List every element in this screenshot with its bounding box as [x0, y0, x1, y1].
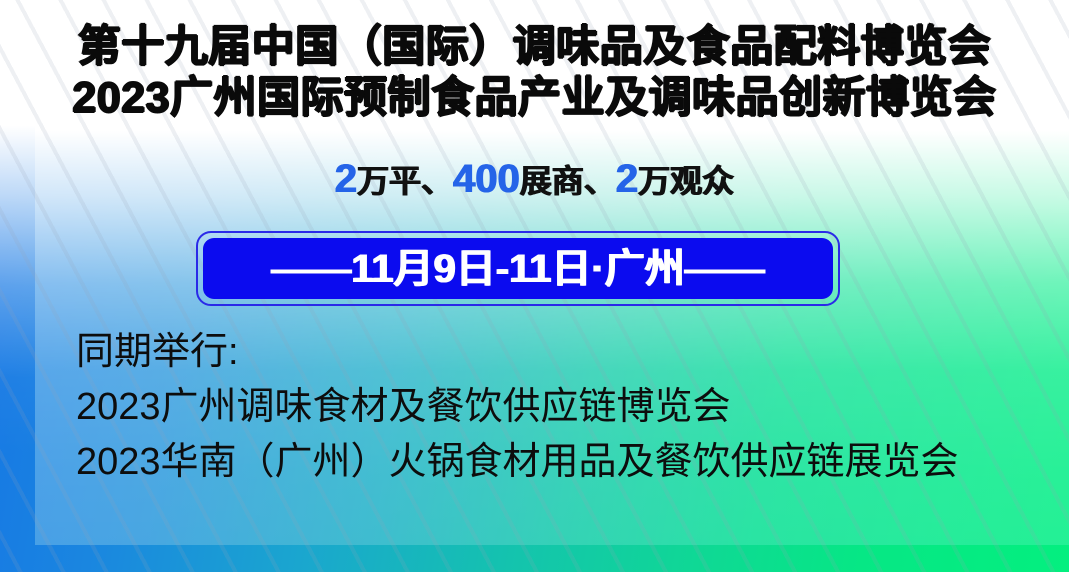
- concurrent-events-label: 同期举行:: [76, 325, 1056, 380]
- stat-area-number: 2: [335, 157, 357, 201]
- concurrent-events-block: 同期举行: 2023广州调味食材及餐饮供应链博览会 2023华南（广州）火锅食材…: [76, 325, 1056, 490]
- event-poster: 第十九届中国（国际）调味品及食品配料博览会 2023广州国际预制食品产业及调味品…: [0, 0, 1069, 572]
- stat-visitors-number: 2: [616, 157, 638, 201]
- poster-content: 第十九届中国（国际）调味品及食品配料博览会 2023广州国际预制食品产业及调味品…: [0, 0, 1069, 572]
- stat-area-unit: 万平、: [357, 163, 453, 199]
- date-location-text: ——11月9日-11日·广州——: [271, 247, 764, 291]
- stat-exhibitors-number: 400: [453, 157, 520, 201]
- date-location-banner-fill: ——11月9日-11日·广州——: [203, 238, 833, 299]
- date-location-banner: ——11月9日-11日·广州——: [196, 231, 840, 306]
- headline-block: 第十九届中国（国际）调味品及食品配料博览会 2023广州国际预制食品产业及调味品…: [0, 22, 1069, 124]
- concurrent-event-2: 2023华南（广州）火锅食材用品及餐饮供应链展览会: [76, 435, 1056, 490]
- headline-line-2: 2023广州国际预制食品产业及调味品创新博览会: [0, 73, 1069, 124]
- headline-line-1: 第十九届中国（国际）调味品及食品配料博览会: [0, 22, 1069, 73]
- stat-exhibitors-unit: 展商、: [520, 163, 616, 199]
- concurrent-event-1: 2023广州调味食材及餐饮供应链博览会: [76, 380, 1056, 435]
- stat-visitors-unit: 万观众: [638, 163, 734, 199]
- stats-line: 2万平、400展商、2万观众: [0, 157, 1069, 203]
